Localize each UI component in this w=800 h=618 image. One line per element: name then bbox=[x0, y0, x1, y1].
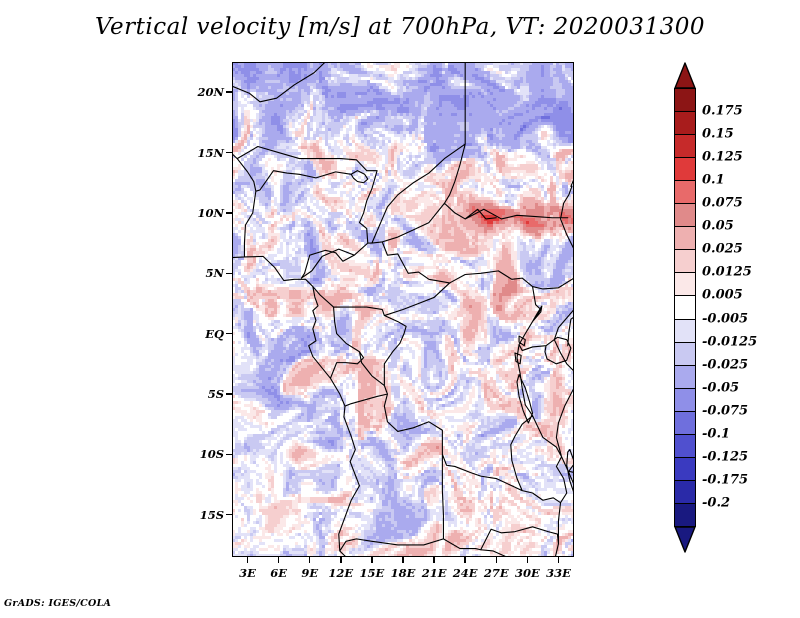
page-title: Vertical velocity [m/s] at 700hPa, VT: 2… bbox=[0, 14, 800, 40]
colorbar-cell bbox=[674, 365, 696, 389]
colorbar-tick-label: 0.125 bbox=[702, 150, 743, 165]
colorbar-cell bbox=[674, 319, 696, 343]
y-tick-mark bbox=[226, 212, 232, 214]
colorbar-tick-label: -0.2 bbox=[702, 495, 730, 510]
y-tick-mark bbox=[226, 333, 232, 335]
y-tick-mark bbox=[226, 91, 232, 93]
colorbar-tick-label: 0.025 bbox=[702, 242, 743, 257]
colorbar-cell bbox=[674, 203, 696, 227]
colorbar-tick-label: 0.1 bbox=[702, 173, 725, 188]
colorbar-tick-label: -0.0125 bbox=[702, 334, 757, 349]
colorbar-tick-label: 0.005 bbox=[702, 288, 743, 303]
x-tick-label: 9E bbox=[295, 566, 325, 580]
x-tick-mark bbox=[402, 557, 404, 563]
y-tick-label: 10N bbox=[184, 206, 224, 220]
colorbar-cell bbox=[674, 388, 696, 412]
y-tick-label: 15S bbox=[184, 508, 224, 522]
x-tick-label: 33E bbox=[543, 566, 573, 580]
colorbar-cell bbox=[674, 226, 696, 250]
colorbar-cell bbox=[674, 88, 696, 112]
colorbar-tick-label: -0.05 bbox=[702, 380, 739, 395]
colorbar-cell bbox=[674, 157, 696, 181]
colorbar-arrow-top bbox=[674, 62, 696, 89]
colorbar-cell bbox=[674, 295, 696, 319]
colorbar-cell bbox=[674, 111, 696, 135]
x-tick-mark bbox=[496, 557, 498, 563]
x-tick-label: 12E bbox=[326, 566, 356, 580]
map-plot-area bbox=[232, 62, 574, 557]
x-tick-mark bbox=[247, 557, 249, 563]
y-tick-label: 20N bbox=[184, 85, 224, 99]
y-tick-label: EQ bbox=[184, 327, 224, 341]
x-tick-mark bbox=[433, 557, 435, 563]
colorbar-tick-label: -0.1 bbox=[702, 426, 730, 441]
colorbar-cell bbox=[674, 272, 696, 296]
x-tick-mark bbox=[558, 557, 560, 563]
colorbar-tick-label: 0.075 bbox=[702, 196, 743, 211]
y-tick-label: 5N bbox=[184, 266, 224, 280]
x-tick-mark bbox=[340, 557, 342, 563]
x-tick-mark bbox=[278, 557, 280, 563]
grads-plot-page: Vertical velocity [m/s] at 700hPa, VT: 2… bbox=[0, 0, 800, 618]
y-tick-label: 5S bbox=[184, 387, 224, 401]
colorbar-cell bbox=[674, 503, 696, 527]
colorbar-tick-label: -0.005 bbox=[702, 311, 748, 326]
x-tick-label: 15E bbox=[357, 566, 387, 580]
colorbar-cell bbox=[674, 434, 696, 458]
colorbar-tick-label: 0.05 bbox=[702, 219, 734, 234]
x-tick-label: 30E bbox=[512, 566, 542, 580]
colorbar-tick-label: 0.15 bbox=[702, 127, 734, 142]
y-tick-mark bbox=[226, 152, 232, 154]
colorbar-cell bbox=[674, 180, 696, 204]
colorbar-arrow-bottom bbox=[674, 526, 696, 553]
footer-credit: GrADS: IGES/COLA bbox=[4, 598, 111, 609]
x-tick-mark bbox=[371, 557, 373, 563]
colorbar-cell bbox=[674, 480, 696, 504]
x-tick-label: 6E bbox=[264, 566, 294, 580]
colorbar-tick-label: -0.025 bbox=[702, 357, 748, 372]
colorbar-tick-label: -0.125 bbox=[702, 449, 748, 464]
colorbar-cell bbox=[674, 457, 696, 481]
x-tick-label: 21E bbox=[419, 566, 449, 580]
y-tick-mark bbox=[226, 454, 232, 456]
x-tick-label: 18E bbox=[388, 566, 418, 580]
x-tick-mark bbox=[527, 557, 529, 563]
y-tick-label: 15N bbox=[184, 146, 224, 160]
x-tick-mark bbox=[464, 557, 466, 563]
vertical-velocity-heatmap bbox=[232, 62, 574, 557]
x-tick-label: 27E bbox=[481, 566, 511, 580]
colorbar-tick-label: 0.175 bbox=[702, 104, 743, 119]
y-tick-mark bbox=[226, 273, 232, 275]
y-tick-mark bbox=[226, 514, 232, 516]
colorbar-cell bbox=[674, 411, 696, 435]
colorbar-tick-label: -0.175 bbox=[702, 472, 748, 487]
colorbar: 0.1750.150.1250.10.0750.050.0250.01250.0… bbox=[674, 62, 696, 552]
colorbar-cell bbox=[674, 134, 696, 158]
colorbar-cell bbox=[674, 342, 696, 366]
colorbar-tick-label: -0.075 bbox=[702, 403, 748, 418]
colorbar-tick-label: 0.0125 bbox=[702, 265, 752, 280]
y-tick-label: 10S bbox=[184, 447, 224, 461]
x-tick-label: 24E bbox=[450, 566, 480, 580]
y-tick-mark bbox=[226, 393, 232, 395]
x-tick-label: 3E bbox=[233, 566, 263, 580]
colorbar-cell bbox=[674, 249, 696, 273]
x-tick-mark bbox=[309, 557, 311, 563]
